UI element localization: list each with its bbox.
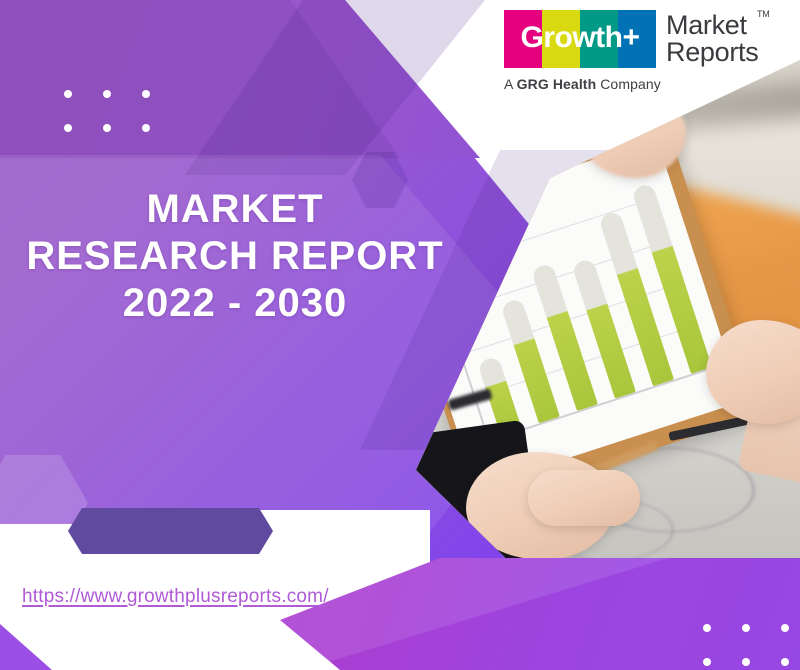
dot: [103, 90, 111, 98]
photo-hand-left-fingers: [528, 470, 640, 526]
growth-plus-market-reports-logo: Growth+ MarketTM Reports A GRG Health Co…: [504, 10, 786, 102]
logo-text-market: MarketTM: [666, 12, 758, 39]
logo-tagline-suffix: Company: [596, 76, 661, 92]
logo-tagline: A GRG Health Company: [504, 76, 786, 92]
title-line-2: RESEARCH REPORT: [0, 233, 470, 280]
dot: [781, 624, 789, 632]
dot: [142, 90, 150, 98]
dot: [742, 658, 750, 666]
cover-title: MARKET RESEARCH REPORT 2022 - 2030: [0, 186, 470, 328]
dot: [781, 658, 789, 666]
logo-text-market-label: Market: [666, 10, 747, 40]
trademark-icon: TM: [757, 10, 769, 19]
dot-grid-bottomright: [703, 624, 789, 666]
hexagon-bar: [68, 508, 273, 554]
logo-wordmark-growth-plus: Growth+: [504, 10, 656, 68]
dot: [64, 90, 72, 98]
logo-tagline-brand: GRG Health: [517, 76, 597, 92]
title-line-3: 2022 - 2030: [0, 280, 470, 327]
dot: [703, 658, 711, 666]
dot: [64, 124, 72, 132]
dot: [142, 124, 150, 132]
report-cover: MARKET RESEARCH REPORT 2022 - 2030 https…: [0, 0, 800, 670]
logo-color-block: Growth+: [504, 10, 656, 68]
dot-grid-topleft: [64, 90, 150, 132]
logo-tagline-prefix: A: [504, 76, 517, 92]
website-url-link[interactable]: https://www.growthplusreports.com/: [22, 586, 329, 608]
dot: [103, 124, 111, 132]
title-line-1: MARKET: [0, 186, 470, 233]
dot: [703, 624, 711, 632]
logo-text-reports: Reports: [666, 39, 758, 66]
dot: [742, 624, 750, 632]
